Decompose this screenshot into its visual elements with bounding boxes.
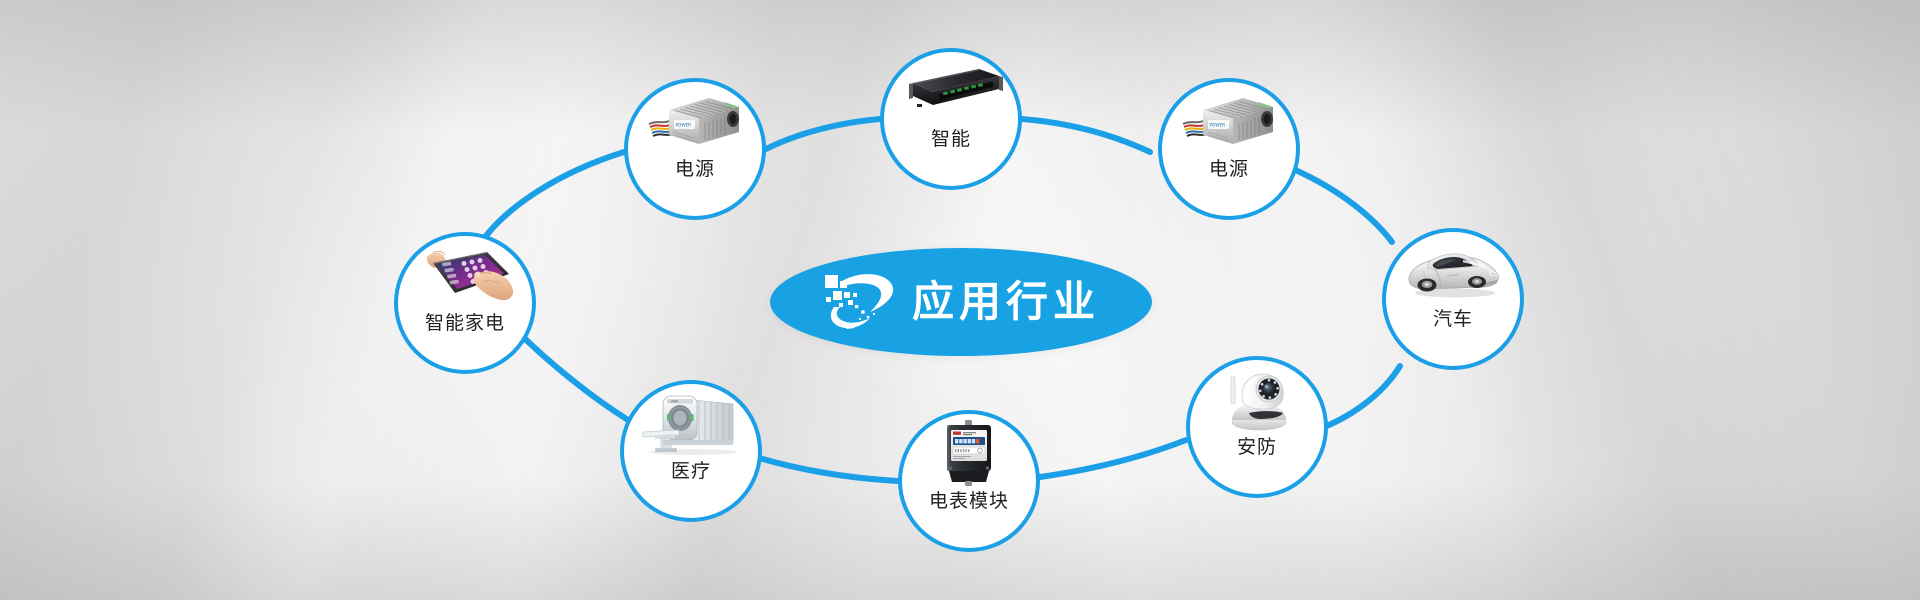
- mri-scanner-icon: [624, 384, 758, 462]
- hub-label: 应用行业: [912, 281, 1100, 323]
- node-label: 安防: [1237, 438, 1277, 457]
- rack-server-icon: [884, 52, 1018, 130]
- node-smart-home[interactable]: 智能家电: [394, 232, 536, 374]
- node-security[interactable]: 安防: [1186, 356, 1328, 498]
- hub-badge-application-industries[interactable]: 应用行业: [770, 248, 1152, 356]
- link-car-to-security: [1322, 366, 1400, 428]
- node-label: 智能家电: [425, 314, 505, 333]
- svg-text:POWER: POWER: [676, 122, 692, 127]
- application-industries-graphic: POWER: [0, 0, 1920, 600]
- node-label: 电源: [1209, 160, 1249, 179]
- node-label: 电源: [675, 160, 715, 179]
- link-medical-to-smarthome: [516, 330, 628, 420]
- link-smart-to-power-right: [1022, 119, 1150, 152]
- svg-text:POWER: POWER: [1210, 122, 1226, 127]
- link-power-right-to-car: [1286, 166, 1392, 242]
- tablet-touchscreen-icon: [398, 236, 532, 314]
- electric-meter-icon: [902, 414, 1036, 492]
- node-label: 电表模块: [929, 492, 1009, 511]
- node-label: 医疗: [671, 462, 711, 481]
- node-meter-module[interactable]: 电表模块: [898, 410, 1040, 552]
- node-smart[interactable]: 智能: [880, 48, 1022, 190]
- swoosh-pixel-orbit-logo: [822, 271, 896, 333]
- node-medical[interactable]: 医疗: [620, 380, 762, 522]
- pc-power-supply-icon: POWER: [628, 82, 762, 160]
- ip-camera-icon: [1190, 360, 1324, 438]
- node-power-supply-right[interactable]: POWER 电源: [1158, 78, 1300, 220]
- pc-power-supply-icon: POWER: [1162, 82, 1296, 160]
- link-power-left-to-smart: [760, 119, 880, 152]
- link-meter-to-medical: [756, 457, 898, 481]
- sports-car-icon: [1386, 232, 1520, 310]
- node-automotive[interactable]: 汽车: [1382, 228, 1524, 370]
- link-smarthome-to-power-left: [480, 152, 624, 244]
- node-label: 汽车: [1433, 310, 1473, 329]
- node-label: 智能: [931, 130, 971, 149]
- node-power-supply-left[interactable]: POWER: [624, 78, 766, 220]
- link-security-to-meter: [1040, 440, 1186, 477]
